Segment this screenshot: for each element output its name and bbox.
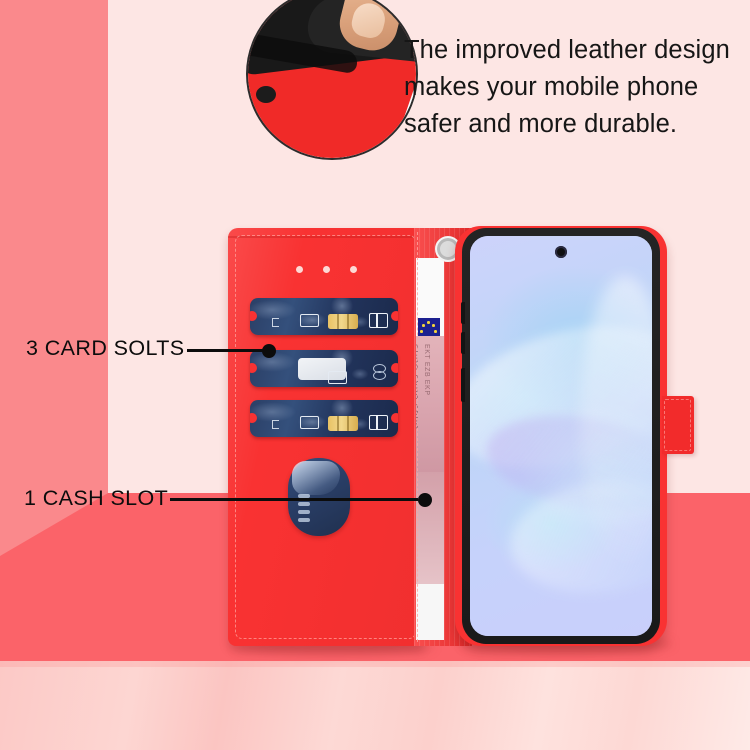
background-foreground-edge	[0, 661, 750, 667]
card-square-mark	[300, 416, 319, 429]
headline-text: The improved leather design makes your m…	[404, 32, 740, 143]
banknote-mid-section: EURO EYPO EBPO EKT EZB EKP	[416, 336, 444, 472]
wallet-stitching	[235, 235, 416, 639]
card-oval-mark-bottom	[373, 371, 386, 380]
cash-pocket-gloss	[292, 461, 340, 495]
card-tiny-mark	[272, 318, 279, 327]
phone-in-case	[455, 226, 667, 646]
callout-label-cash-slot: 1 CASH SLOT	[24, 486, 168, 511]
phone-body	[462, 228, 660, 644]
banknote-top-section: 10	[416, 258, 444, 336]
background-foreground-strip	[0, 661, 750, 750]
callout-dot-card-slots	[262, 344, 276, 358]
card-logo-icon	[369, 313, 388, 328]
speaker-dots-icon	[296, 266, 358, 273]
card-slot-1	[250, 298, 398, 335]
leather-detail-inset	[246, 0, 418, 160]
inset-corner-dot	[256, 86, 276, 103]
volume-down-button[interactable]	[461, 332, 465, 354]
callout-dot-cash-slot	[418, 493, 432, 507]
volume-up-button[interactable]	[461, 302, 465, 324]
strap-stitching	[664, 399, 691, 451]
phone-screen[interactable]	[470, 236, 652, 636]
banknote-bottom-section: 10	[416, 584, 444, 640]
fingernail	[349, 0, 388, 41]
card-square-mark	[300, 314, 319, 327]
product-feature-graphic: The improved leather design makes your m…	[0, 0, 750, 750]
card-notch-right	[391, 363, 398, 373]
cash-slot-pocket	[288, 458, 350, 536]
wallet-strap-tab	[662, 396, 694, 454]
banknote-microtext-2: EKT EZB EKP	[423, 344, 430, 396]
card-notch-right	[391, 311, 398, 321]
card-logo-icon	[369, 415, 388, 430]
front-camera-punch-hole-icon	[555, 246, 567, 258]
callout-leader-card-slots	[187, 349, 269, 352]
power-button[interactable]	[461, 368, 465, 402]
card-slot-3	[250, 400, 398, 437]
spine-stitching	[417, 232, 418, 642]
eu-flag-icon	[418, 318, 440, 336]
card-tiny-mark	[272, 420, 279, 429]
callout-leader-cash-slot	[170, 498, 418, 501]
card-square-mark	[328, 371, 347, 384]
callout-label-card-slots: 3 CARD SOLTS	[26, 336, 185, 361]
banknote-low-section: 10	[416, 472, 444, 584]
wallet-flap	[228, 228, 423, 646]
card-notch-right	[391, 413, 398, 423]
card-chip-icon	[328, 416, 358, 431]
card-chip-icon	[328, 314, 358, 329]
